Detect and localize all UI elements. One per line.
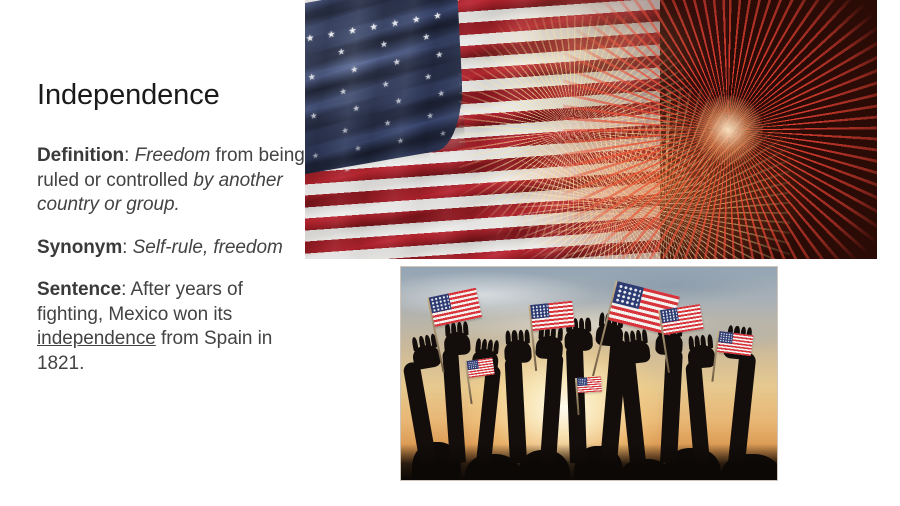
- sentence-label: Sentence: [37, 279, 121, 300]
- flag-cloth: [577, 376, 602, 393]
- raised-hand: [623, 339, 652, 365]
- raised-hand: [443, 331, 471, 356]
- mini-american-flag: [530, 301, 574, 331]
- hand-finger: [456, 322, 462, 336]
- sentence-underlined-word: independence: [37, 328, 156, 349]
- synonym-separator: :: [122, 237, 132, 258]
- hand-finger: [701, 334, 707, 348]
- hand-finger: [579, 318, 585, 332]
- hand-finger: [411, 337, 418, 351]
- flag-canton: [577, 377, 588, 386]
- synonym-paragraph: Synonym: Self-rule, freedom: [37, 236, 305, 261]
- raised-hand: [535, 335, 563, 360]
- flag-cloth: [530, 301, 574, 331]
- synonym-value: Self-rule, freedom: [133, 237, 283, 258]
- flag-fireworks-photo: ★★★★★★★★★★★★★★★★★★★★★★★★★★★★★★★: [305, 0, 877, 259]
- hand-finger: [688, 336, 694, 350]
- definition-paragraph: Definition: Freedom from being ruled or …: [37, 144, 305, 218]
- flag-canton: [718, 331, 734, 344]
- hand-finger: [487, 339, 493, 353]
- hand-finger: [557, 327, 563, 341]
- hand-finger: [511, 331, 517, 345]
- hand-finger: [585, 317, 591, 331]
- mini-american-flag: [717, 331, 753, 356]
- sentence-separator: :: [121, 279, 130, 300]
- hands-flags-render: [401, 267, 777, 480]
- raised-hand: [564, 327, 593, 351]
- hand-finger: [450, 322, 456, 336]
- definition-italic-word: Freedom: [135, 145, 211, 166]
- synonym-label: Synonym: [37, 237, 122, 258]
- hand-finger: [463, 321, 469, 335]
- hand-finger: [518, 330, 524, 344]
- flag-canton: [466, 359, 478, 370]
- hands-flags-photo: [401, 267, 777, 480]
- slide-canvas: Independence Definition: Freedom from be…: [0, 0, 900, 506]
- flag-fireworks-render: ★★★★★★★★★★★★★★★★★★★★★★★★★★★★★★★: [305, 0, 877, 259]
- definition-separator: :: [124, 145, 134, 166]
- hand-finger: [417, 335, 424, 349]
- raised-hand: [504, 340, 532, 365]
- mini-american-flag: [466, 357, 494, 377]
- page-title: Independence: [37, 78, 305, 112]
- flag-cloth: [717, 331, 753, 356]
- definition-label: Definition: [37, 145, 124, 166]
- hand-finger: [707, 334, 713, 348]
- text-column: Independence Definition: Freedom from be…: [37, 78, 305, 376]
- hand-finger: [524, 330, 530, 344]
- firework-ambient-glow: [305, 0, 877, 259]
- hand-finger: [642, 330, 648, 344]
- flag-canton: [429, 293, 452, 313]
- flag-cloth: [466, 357, 494, 377]
- flag-canton: [660, 307, 679, 323]
- flag-canton: [530, 304, 549, 320]
- hand-finger: [505, 331, 511, 345]
- mini-american-flag: [577, 376, 602, 393]
- sentence-paragraph: Sentence: After years of fighting, Mexic…: [37, 278, 305, 376]
- foreground-shadow: [401, 444, 777, 480]
- hand-finger: [493, 340, 499, 354]
- raised-hand: [687, 344, 716, 370]
